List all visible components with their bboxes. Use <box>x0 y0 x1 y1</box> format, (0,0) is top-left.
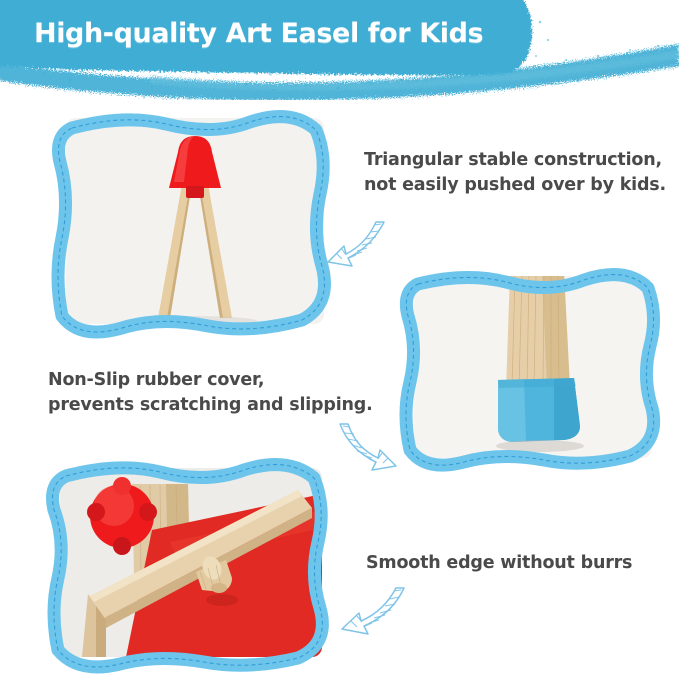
caption-triangular: Triangular stable construction, not easi… <box>364 148 666 198</box>
caption-triangular-line1: Triangular stable construction, <box>364 148 666 173</box>
banner-brushstroke-shape <box>0 0 679 100</box>
arrow-doodle-down-right-two <box>334 416 404 482</box>
header-banner: High-quality Art Easel for Kids <box>0 0 679 100</box>
photo-frame-border-smooth-edge <box>38 450 343 675</box>
caption-nonslip-line1: Non-Slip rubber cover, <box>48 368 373 393</box>
caption-nonslip: Non-Slip rubber cover, prevents scratchi… <box>48 368 373 418</box>
photo-card-triangular <box>44 98 344 345</box>
arrow-doodle-down-left-one <box>322 216 388 278</box>
caption-smooth-edge: Smooth edge without burrs <box>366 551 632 576</box>
photo-frame-border-nonslip <box>392 258 672 477</box>
caption-triangular-line2: not easily pushed over by kids. <box>364 173 666 198</box>
photo-card-smooth-edge <box>38 450 343 675</box>
photo-card-nonslip <box>392 258 672 477</box>
caption-nonslip-line2: prevents scratching and slipping. <box>48 393 373 418</box>
photo-frame-border-triangular <box>44 98 344 345</box>
caption-smooth-edge-line1: Smooth edge without burrs <box>366 551 632 576</box>
arrow-doodle-down-left-three <box>336 582 410 644</box>
page-title: High-quality Art Easel for Kids <box>34 18 504 49</box>
